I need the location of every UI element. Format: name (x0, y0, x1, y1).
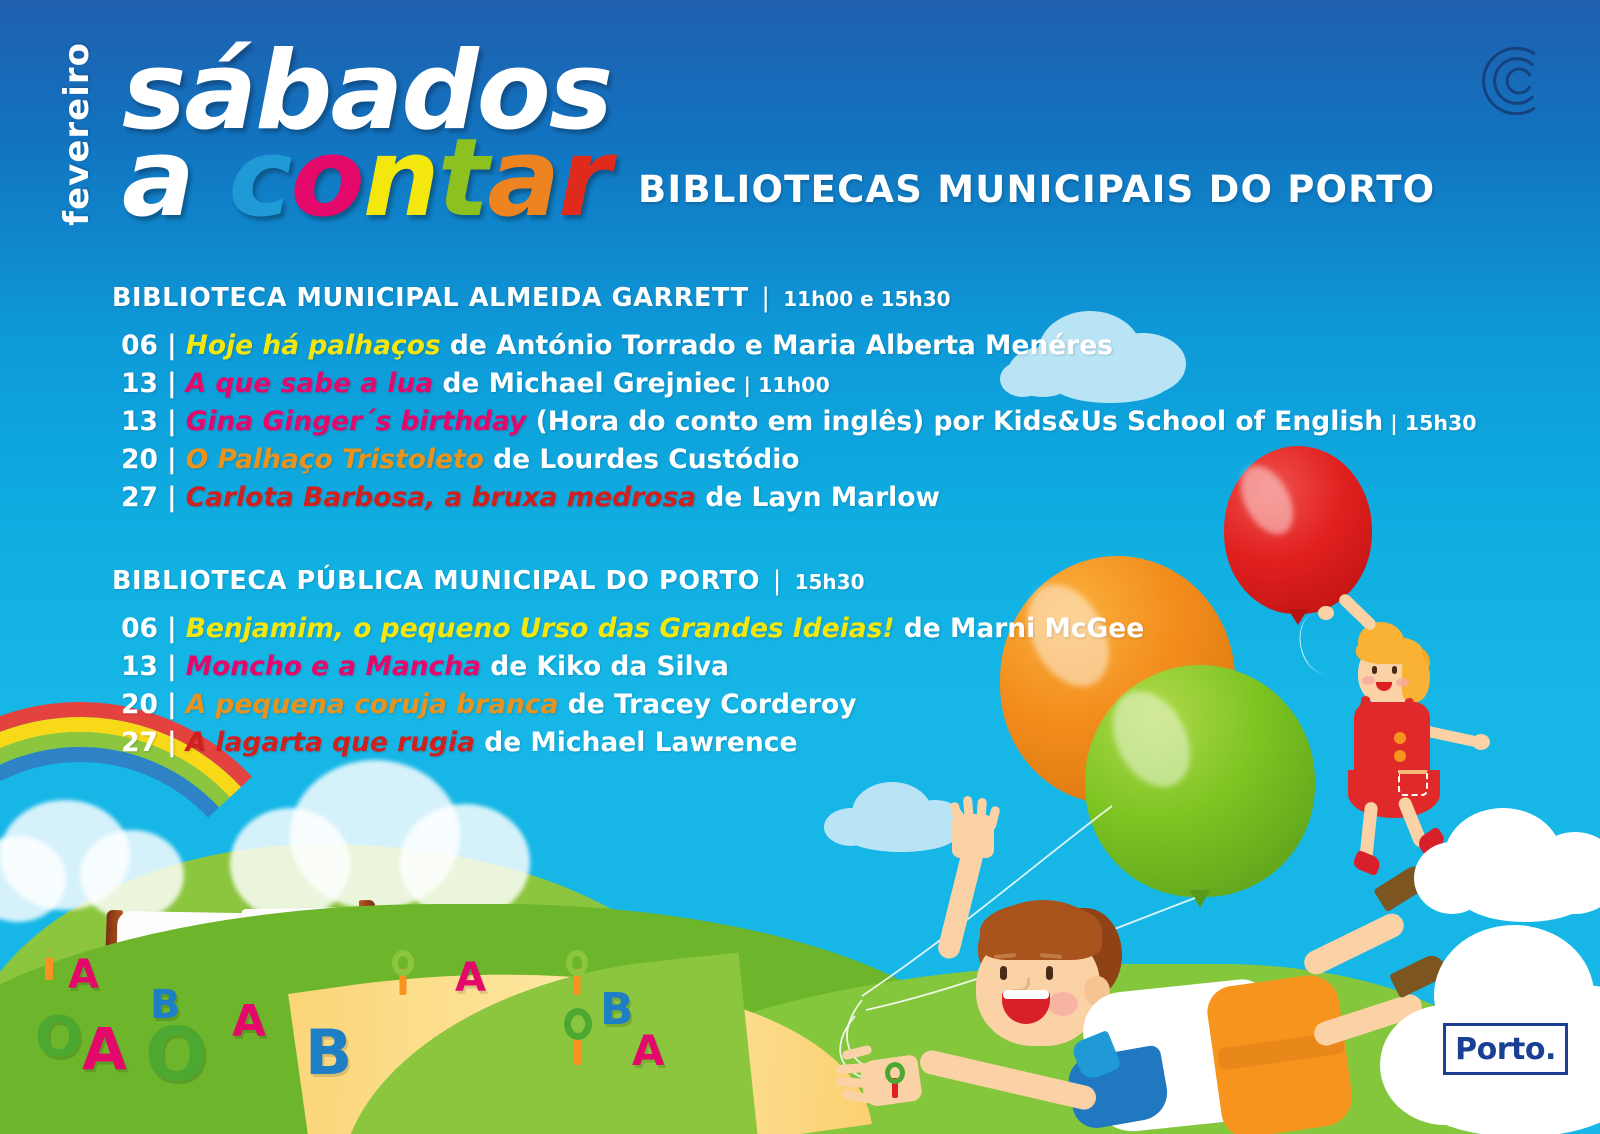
event-separator: | (158, 482, 186, 513)
event-day: 13 (112, 648, 158, 686)
event-separator: | (158, 651, 186, 682)
event-separator: | (158, 727, 186, 758)
event-separator: | (158, 444, 186, 475)
event-separator: | (158, 330, 186, 361)
event-separator: | (158, 689, 186, 720)
event-author: de Layn Marlow (696, 482, 940, 513)
event-title: Benjamim, o pequeno Urso das Grandes Ide… (186, 613, 895, 644)
event-day: 06 (112, 327, 158, 365)
section-name: BIBLIOTECA MUNICIPAL ALMEIDA GARRETT (112, 283, 749, 313)
logo-char (193, 116, 229, 241)
porto-brand-text: Porto. (1455, 1032, 1556, 1067)
event-author: de Marni McGee (895, 613, 1145, 644)
porto-brand-logo: Porto. (1443, 1023, 1568, 1075)
event-author: de Michael Grejniec (433, 368, 736, 399)
section-separator: | (760, 566, 795, 596)
event-extra-time: | 11h00 (736, 373, 829, 397)
event-day: 13 (112, 403, 158, 441)
event-row: 27|A lagarta que rugia de Michael Lawren… (112, 724, 1312, 762)
event-extra-time: | 15h30 (1383, 411, 1476, 435)
logo-char: a (487, 116, 558, 241)
logo-char: r (558, 116, 609, 241)
event-row: 13|Gina Ginger´s birthday (Hora do conto… (112, 403, 1312, 441)
event-day: 13 (112, 365, 158, 403)
event-day: 06 (112, 610, 158, 648)
event-author: de Kiko da Silva (481, 651, 729, 682)
event-title: A lagarta que rugia (186, 727, 475, 758)
event-separator: | (158, 406, 186, 437)
section-times: 11h00 e 15h30 (783, 287, 950, 311)
poster-canvas: A B O A O A B A B A (0, 0, 1600, 1134)
event-author: de Michael Lawrence (475, 727, 797, 758)
section-heading: BIBLIOTECA PÚBLICA MUNICIPAL DO PORTO | … (112, 566, 1312, 596)
event-title: Carlota Barbosa, a bruxa medrosa (186, 482, 696, 513)
logo-char: a (122, 116, 193, 241)
event-day: 27 (112, 724, 158, 762)
poster-subtitle: BIBLIOTECAS MUNICIPAIS DO PORTO (638, 168, 1435, 211)
event-title: Hoje há palhaços (186, 330, 441, 361)
event-row: 20|O Palhaço Tristoleto de Lourdes Custó… (112, 441, 1312, 479)
event-day: 27 (112, 479, 158, 517)
section-separator: | (749, 283, 784, 313)
event-day: 20 (112, 686, 158, 724)
camara-municipal-porto-spiral-icon (1472, 38, 1558, 124)
event-title: A que sabe a lua (186, 368, 434, 399)
event-title: O Palhaço Tristoleto (186, 444, 484, 475)
event-row: 20|A pequena coruja branca de Tracey Cor… (112, 686, 1312, 724)
logo-char: c (229, 116, 291, 241)
program-listing: BIBLIOTECA MUNICIPAL ALMEIDA GARRETT | 1… (112, 283, 1312, 762)
event-title: A pequena coruja branca (186, 689, 559, 720)
month-label: fevereiro (57, 42, 97, 226)
event-author: de Lourdes Custódio (484, 444, 800, 475)
section-times: 15h30 (795, 570, 865, 594)
event-row: 06|Hoje há palhaços de António Torrado e… (112, 327, 1312, 365)
event-separator: | (158, 613, 186, 644)
section-name: BIBLIOTECA PÚBLICA MUNICIPAL DO PORTO (112, 566, 760, 596)
event-day: 20 (112, 441, 158, 479)
logo-char: t (438, 116, 488, 241)
event-title: Gina Ginger´s birthday (186, 406, 527, 437)
library-section-publica-municipal-porto: BIBLIOTECA PÚBLICA MUNICIPAL DO PORTO | … (112, 566, 1312, 762)
event-row: 13|A que sabe a lua de Michael Grejniec … (112, 365, 1312, 403)
event-row: 06|Benjamim, o pequeno Urso das Grandes … (112, 610, 1312, 648)
event-separator: | (158, 368, 186, 399)
library-section-almeida-garrett: BIBLIOTECA MUNICIPAL ALMEIDA GARRETT | 1… (112, 283, 1312, 516)
event-author: de António Torrado e Maria Alberta Menér… (441, 330, 1113, 361)
logo-char: o (291, 116, 363, 241)
section-heading: BIBLIOTECA MUNICIPAL ALMEIDA GARRETT | 1… (112, 283, 1312, 313)
event-title: Moncho e a Mancha (186, 651, 481, 682)
event-author: (Hora do conto em inglês) por Kids&Us Sc… (526, 406, 1383, 437)
poster-logo: sábados a contar (122, 48, 611, 225)
event-author: de Tracey Corderoy (559, 689, 857, 720)
logo-char: n (363, 116, 438, 241)
event-row: 13|Moncho e a Mancha de Kiko da Silva (112, 648, 1312, 686)
event-row: 27|Carlota Barbosa, a bruxa medrosa de L… (112, 479, 1312, 517)
logo-line-a-contar: a contar (122, 133, 611, 226)
